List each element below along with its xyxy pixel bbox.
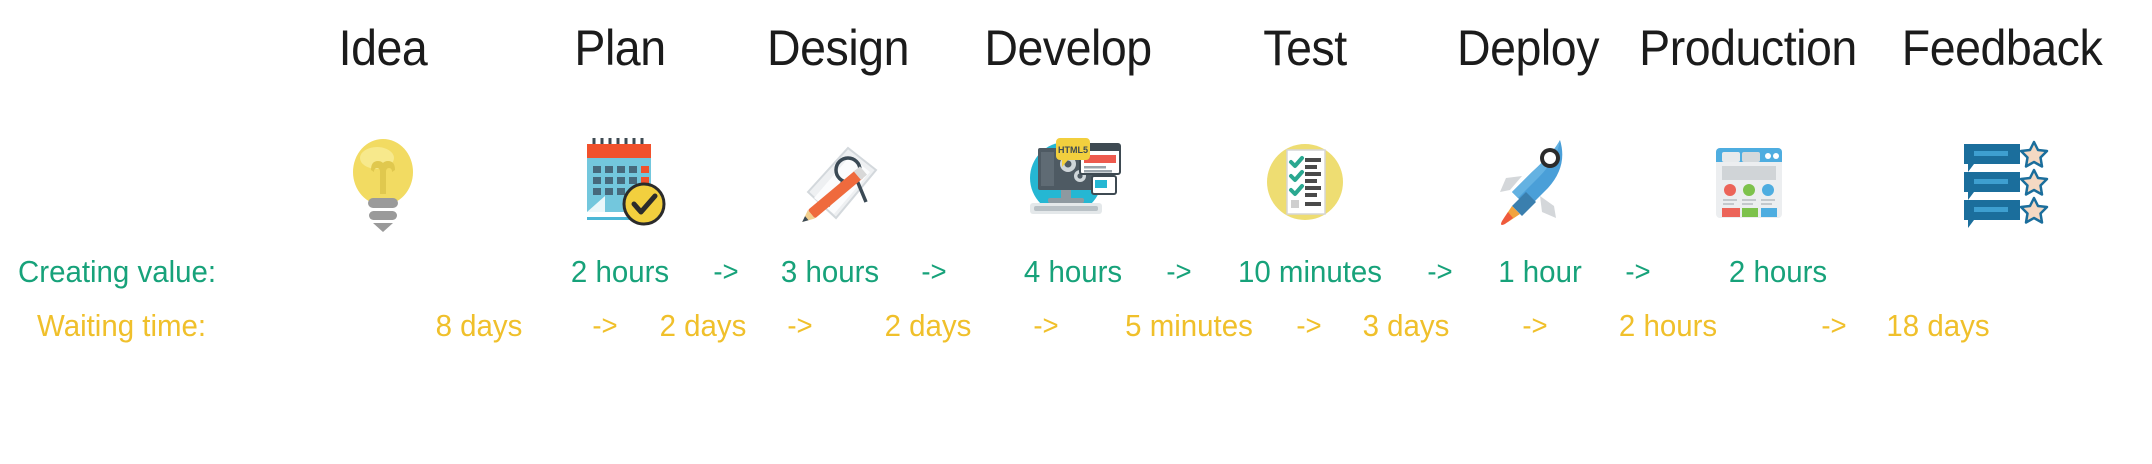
stage-title-plan: Plan (574, 20, 665, 76)
creating-value-arrow-3: -> (1166, 254, 1191, 290)
creating-value-design: 3 hours (781, 254, 879, 290)
waiting-time-label: Waiting time: (37, 308, 206, 344)
creating-value-test: 10 minutes (1238, 254, 1382, 290)
waiting-time-idea: 8 days (436, 308, 523, 344)
waiting-time-plan: 2 days (660, 308, 747, 344)
creating-value-deploy: 1 hour (1498, 254, 1582, 290)
feedback-stars-icon (1942, 130, 2062, 234)
computer-code-icon: HTML5 (1008, 130, 1128, 234)
waiting-time-test: 3 days (1363, 308, 1450, 344)
stage-title-develop: Develop (984, 20, 1151, 76)
waiting-time-production: 18 days (1886, 308, 1989, 344)
pencil-sketch-icon (778, 130, 898, 234)
waiting-time-arrow-3: -> (1033, 308, 1058, 344)
waiting-time-arrow-2: -> (787, 308, 812, 344)
browser-window-icon (1688, 130, 1808, 234)
waiting-time-deploy: 2 hours (1619, 308, 1717, 344)
waiting-time-arrow-1: -> (592, 308, 617, 344)
waiting-time-arrow-4: -> (1296, 308, 1321, 344)
stage-title-test: Test (1263, 20, 1346, 76)
creating-value-arrow-2: -> (921, 254, 946, 290)
waiting-time-arrow-6: -> (1821, 308, 1846, 344)
stage-title-idea: Idea (339, 20, 428, 76)
creating-value-arrow-1: -> (713, 254, 738, 290)
rocket-icon (1468, 130, 1588, 234)
waiting-time-design: 2 days (885, 308, 972, 344)
waiting-time-arrow-5: -> (1522, 308, 1547, 344)
stage-title-design: Design (767, 20, 909, 76)
stage-title-deploy: Deploy (1457, 20, 1599, 76)
checklist-icon (1245, 130, 1365, 234)
creating-value-develop: 4 hours (1024, 254, 1122, 290)
creating-value-production: 2 hours (1729, 254, 1827, 290)
waiting-time-develop: 5 minutes (1125, 308, 1253, 344)
creating-value-arrow-5: -> (1625, 254, 1650, 290)
creating-value-arrow-4: -> (1427, 254, 1452, 290)
stage-title-production: Production (1639, 20, 1857, 76)
svg-text:HTML5: HTML5 (1058, 145, 1088, 155)
stage-title-feedback: Feedback (1902, 20, 2103, 76)
calendar-check-icon (560, 130, 680, 234)
creating-value-label: Creating value: (18, 254, 216, 290)
creating-value-plan: 2 hours (571, 254, 669, 290)
value-stream-map: Idea Plan Design Develop Test Deploy Pro… (0, 0, 2152, 464)
lightbulb-icon (323, 130, 443, 234)
